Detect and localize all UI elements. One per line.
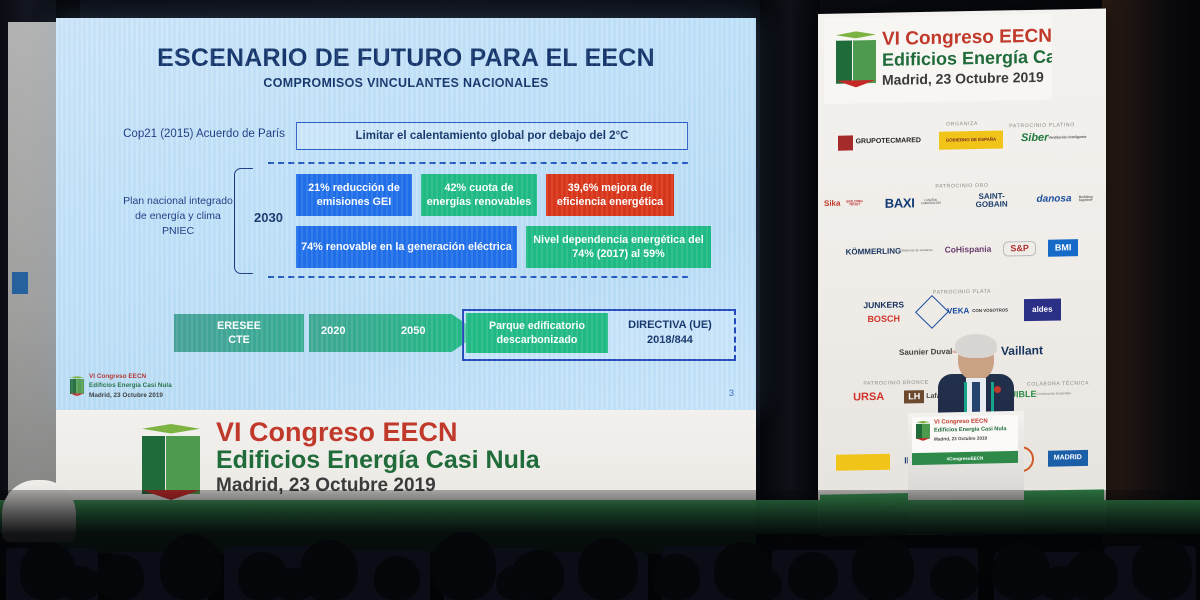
conference-photo-scene: ESCENARIO DE FUTURO PARA EL EECN COMPROM… — [0, 0, 1200, 600]
kpi-box-emisiones: 21% reducción de emisiones GEI — [296, 174, 412, 216]
sponsor-logo-baxi: BAXI LA NUEVA CLIMATIZACIÓN — [885, 195, 947, 210]
slide-footer-logo: VI Congreso EECN Edificios Energía Casi … — [70, 372, 172, 400]
banner-line-1: VI Congreso EECN — [216, 418, 540, 446]
presentation-slide: ESCENARIO DE FUTURO PARA EL EECN COMPROM… — [56, 18, 756, 410]
eresee-line-2: CTE — [217, 333, 261, 347]
pniec-brace — [234, 168, 253, 274]
sponsor-logo-junkers: JUNKERS — [863, 301, 904, 311]
sponsor-wall-header: VI Congreso EECN Edificios Energía Cas M… — [824, 14, 1052, 104]
timeline-parque-box: Parque edificatorio descarbonizado — [466, 313, 608, 353]
kpi-box-eficiencia: 39,6% mejora de eficiencia energética — [546, 174, 674, 216]
sponsor-logo-sika: Sika BUILDING TRUST — [824, 199, 869, 208]
timeline-directiva-label: DIRECTIVA (UE) 2018/844 — [614, 318, 726, 349]
banner-text-block: VI Congreso EECN Edificios Energía Casi … — [216, 418, 540, 498]
wall-header-line-2: Edificios Energía Cas — [882, 46, 1052, 71]
kpi-box-renovables: 42% cuota de energías renovables — [421, 174, 537, 216]
danosa-tagline: Building together — [1072, 195, 1100, 203]
sponsor-logo-ursa: URSA — [853, 392, 884, 404]
timeline-eresee-box: ERESEE CTE — [174, 314, 304, 352]
speaker-lapel-pin — [994, 386, 1001, 393]
podium-building-icon — [916, 421, 930, 441]
sponsor-logo-bmi: BMI — [1048, 239, 1079, 257]
baxi-tagline: LA NUEVA CLIMATIZACIÓN — [915, 199, 947, 206]
timeline-year-end: 2050 — [401, 325, 425, 337]
banner-line-2: Edificios Energía Casi Nula — [216, 446, 540, 474]
veka-group: VEKA CON VOSOTROS — [920, 298, 1008, 324]
sponsor-logo-kommerling: KÖMMERLING Sistemas de ventanas — [846, 246, 933, 256]
veka-tagline: CON VOSOTROS — [972, 308, 1008, 313]
timeline-year-start: 2020 — [321, 325, 345, 337]
eresee-line-1: ERESEE — [217, 319, 261, 333]
timeline-arrow: 2020 2050 — [309, 314, 479, 352]
slide-footer-text: VI Congreso EECN Edificios Energía Casi … — [89, 372, 172, 400]
kpi-box-dependencia: Nivel dependencia energética del 74% (20… — [526, 226, 711, 268]
directiva-line-2: 2018/844 — [614, 333, 726, 348]
kommerling-tagline: Sistemas de ventanas — [901, 249, 932, 253]
slide-page-number: 3 — [729, 388, 734, 398]
slide-footer-line-1: VI Congreso EECN — [89, 372, 172, 381]
stage-side-panel — [8, 22, 56, 502]
sponsor-logo-bosch: BOSCH — [863, 315, 904, 325]
slide-footer-line-3: Madrid, 23 Octubre 2019 — [89, 391, 172, 400]
sponsor-logo-snp: S&P — [1003, 241, 1036, 257]
sponsor-logo-saint-gobain: SAINT-GOBAIN — [963, 192, 1021, 210]
sponsor-logo-cohispania: CoHispania — [945, 245, 992, 255]
podium-hashtag-strip: #CongresoEECN — [912, 451, 1018, 465]
siber-tagline: Ventilación Inteligente — [1048, 136, 1086, 140]
wall-header-line-3: Madrid, 23 Octubre 2019 — [882, 69, 1044, 88]
congress-building-icon — [142, 424, 200, 500]
building-icon — [70, 376, 84, 396]
tecmared-mark-icon — [838, 135, 853, 150]
kpi-box-generacion: 74% renovable en la generación eléctrica — [296, 226, 517, 268]
slide-subtitle: COMPROMISOS VINCULANTES NACIONALES — [56, 76, 756, 90]
side-panel-marker — [12, 272, 28, 294]
sponsor-logo-veka: VEKA — [920, 299, 969, 324]
sponsor-logo-grupotecmared: GRUPOTECMARED — [838, 134, 921, 151]
cop21-label: Cop21 (2015) Acuerdo de París — [104, 128, 304, 140]
sponsor-logo-gobierno: GOBIERNO DE ESPAÑA — [939, 131, 1003, 150]
sponsor-logo-aldes: aldes — [1024, 298, 1060, 321]
junkers-bosch-group: JUNKERS BOSCH — [863, 301, 904, 325]
sponsor-logo-siber: Siber Ventilación Inteligente — [1021, 132, 1086, 145]
construible-tagline: Construcción Sostenible — [1037, 392, 1071, 396]
slide-footer-line-2: Edificios Energía Casi Nula — [89, 381, 172, 390]
year-2030-label: 2030 — [254, 210, 283, 225]
sponsor-logo-gobierno-2 — [836, 454, 890, 471]
wall-building-icon — [836, 31, 876, 88]
stage-curtain-right — [760, 0, 820, 560]
podium-line-1: VI Congreso EECN — [934, 419, 988, 426]
projection-screen: ESCENARIO DE FUTURO PARA EL EECN COMPROM… — [56, 18, 756, 410]
podium-line-2: Edificios Energía Casi Nula — [934, 426, 1006, 434]
podium-hashtag: #CongresoEECN — [947, 455, 984, 461]
sponsor-logo-danosa: danosa Building together — [1037, 194, 1100, 206]
lafarge-mark-icon: LH — [904, 390, 924, 404]
slide-title: ESCENARIO DE FUTURO PARA EL EECN — [56, 44, 756, 73]
cop21-goal-box: Limitar el calentamiento global por deba… — [296, 122, 688, 150]
directiva-line-1: DIRECTIVA (UE) — [614, 318, 726, 333]
sika-tagline: BUILDING TRUST — [840, 200, 868, 208]
podium-line-3: Madrid, 23 Octubre 2019 — [934, 436, 987, 442]
speaker-hair — [955, 334, 997, 358]
audience-silhouettes — [0, 490, 1200, 600]
sponsor-logo-madrid: MADRID — [1048, 450, 1088, 466]
stage-wall-right — [1102, 0, 1200, 560]
